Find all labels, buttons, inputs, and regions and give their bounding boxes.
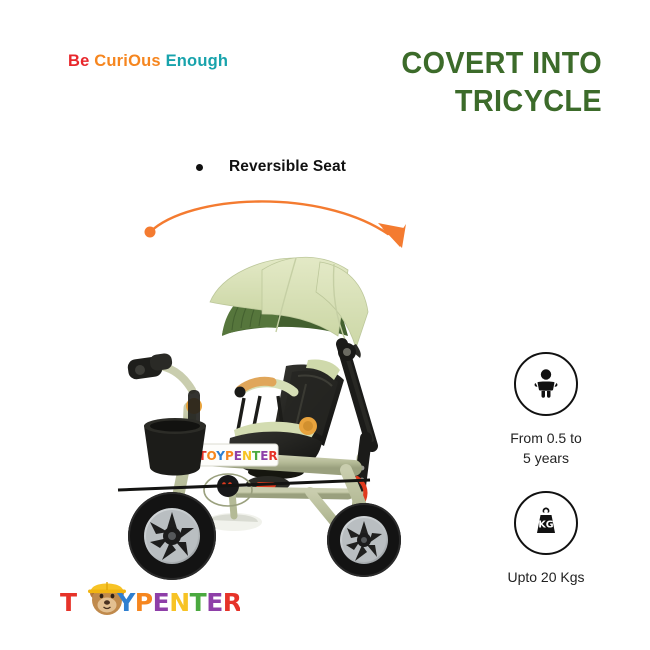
badge-weight-label-line1: Upto 20 Kgs [466,567,626,587]
headline-line-1: COVERT INTO [401,45,602,80]
badge-weight: KG Upto 20 Kgs [466,491,626,587]
svg-text:TOYPENTER: TOYPENTER [198,449,277,463]
ad-canvas: Be CuriOus Enough COVERT INTO TRICYCLE R… [0,0,650,650]
toypenter-logo: TOOYPENTER [60,578,240,624]
badge-weight-label: Upto 20 Kgs [466,567,626,587]
rear-wheel [327,503,401,577]
tagline-word-be: Be [68,52,94,70]
feature-bullet-label: Reversible Seat [229,158,346,176]
badge-age-label-line1: From 0.5 to [466,428,626,448]
svg-text:KG: KG [538,519,553,530]
badge-age: From 0.5 to 5 years [466,352,626,469]
logo-wordmark: TOOYPENTER [60,588,240,617]
frame-decal: TOYPENTER [198,444,278,466]
tagline-word-enough: Enough [166,52,229,70]
badge-age-circle [514,352,578,416]
feature-bullet-row: Reversible Seat [196,158,346,176]
front-basket [144,418,206,476]
headline-line-2: TRICYCLE [323,82,602,120]
tagline: Be CuriOus Enough [68,52,228,71]
badge-age-label-line2: 5 years [466,448,626,468]
page-title: COVERT INTO TRICYCLE [323,44,602,120]
front-wheel [128,492,216,580]
product-image-tricycle: TOYPENTER [110,240,430,580]
tagline-word-curious: CuriOus [94,52,165,70]
bullet-dot-icon [196,164,203,171]
weight-kg-icon: KG [529,506,563,540]
badge-age-label: From 0.5 to 5 years [466,428,626,469]
badge-weight-circle: KG [514,491,578,555]
spec-badges: From 0.5 to 5 years KG Upto 20 Kgs [466,352,626,609]
baby-icon [529,367,563,401]
